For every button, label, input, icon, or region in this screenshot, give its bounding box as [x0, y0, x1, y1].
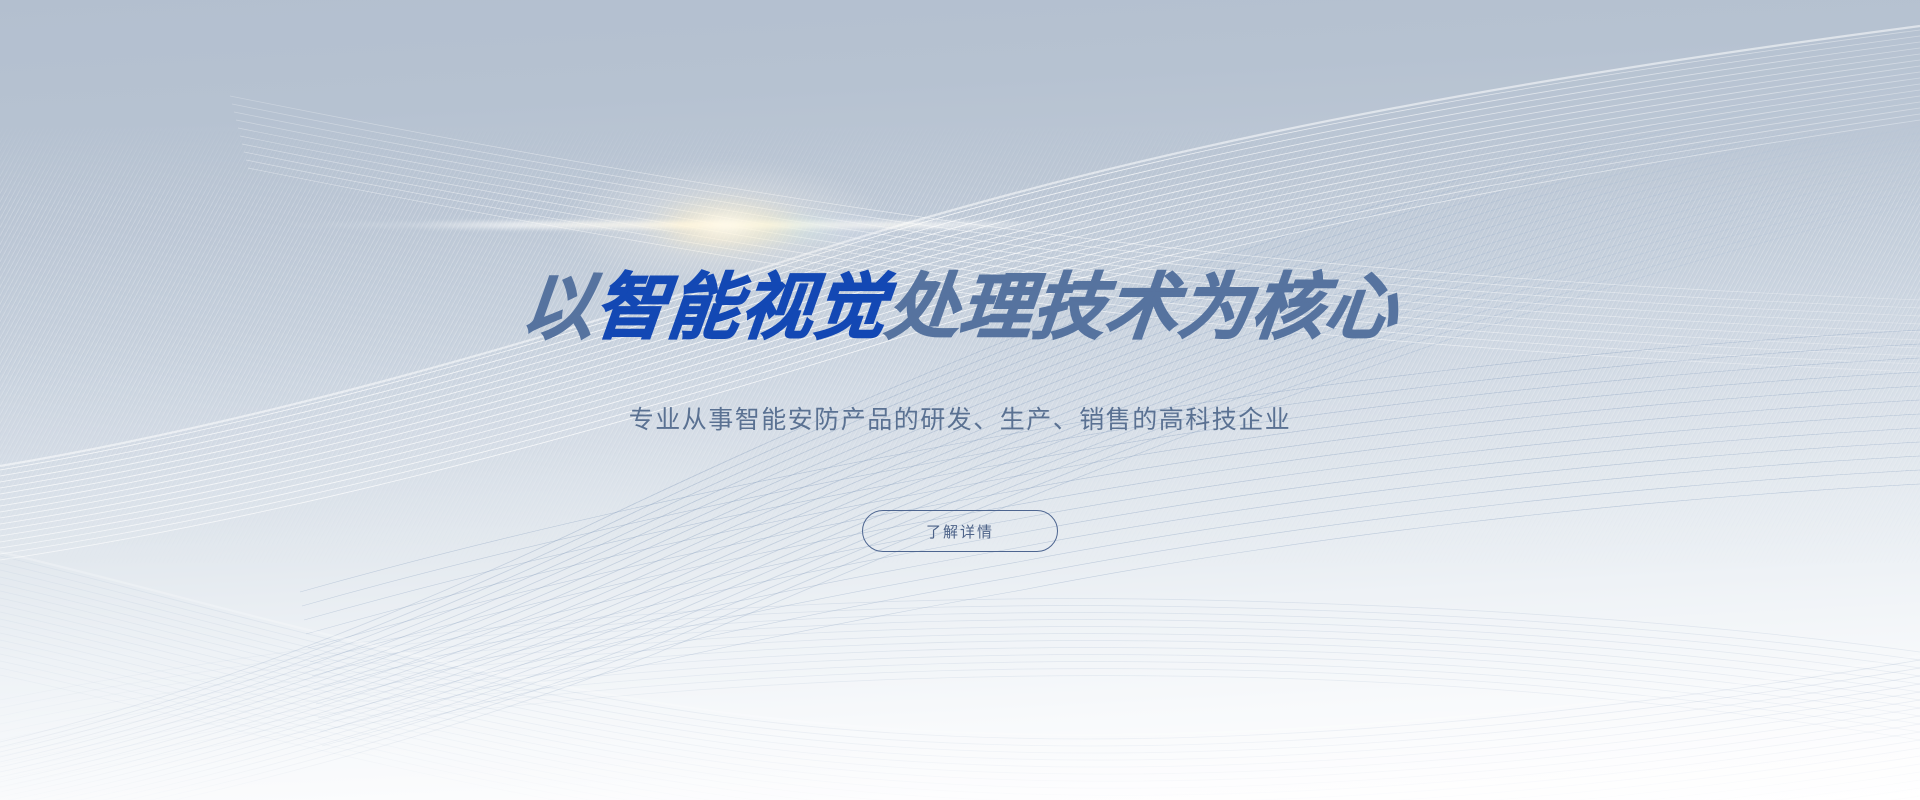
- hero-cta-wrapper: 了解详情: [862, 510, 1058, 552]
- headline-segment-2: 智能视觉: [591, 272, 891, 344]
- hero-banner: 以智能视觉处理技术为核心 专业从事智能安防产品的研发、生产、销售的高科技企业 了…: [0, 0, 1920, 800]
- headline-segment-3: 处理技术为核心: [883, 272, 1402, 344]
- hero-content: 以智能视觉处理技术为核心 专业从事智能安防产品的研发、生产、销售的高科技企业 了…: [0, 0, 1920, 800]
- learn-more-button[interactable]: 了解详情: [862, 510, 1058, 552]
- lens-flare-rainbow: [665, 215, 895, 241]
- lens-flare-streak: [415, 222, 1035, 229]
- headline-segment-1: 以: [518, 272, 599, 344]
- wave-background: [0, 0, 1920, 800]
- lens-flare-streak-faint: [275, 224, 1175, 227]
- hero-subtitle: 专业从事智能安防产品的研发、生产、销售的高科技企业: [629, 403, 1292, 438]
- wave-lines-svg: [0, 0, 1920, 800]
- hero-headline: 以智能视觉处理技术为核心: [522, 272, 1398, 344]
